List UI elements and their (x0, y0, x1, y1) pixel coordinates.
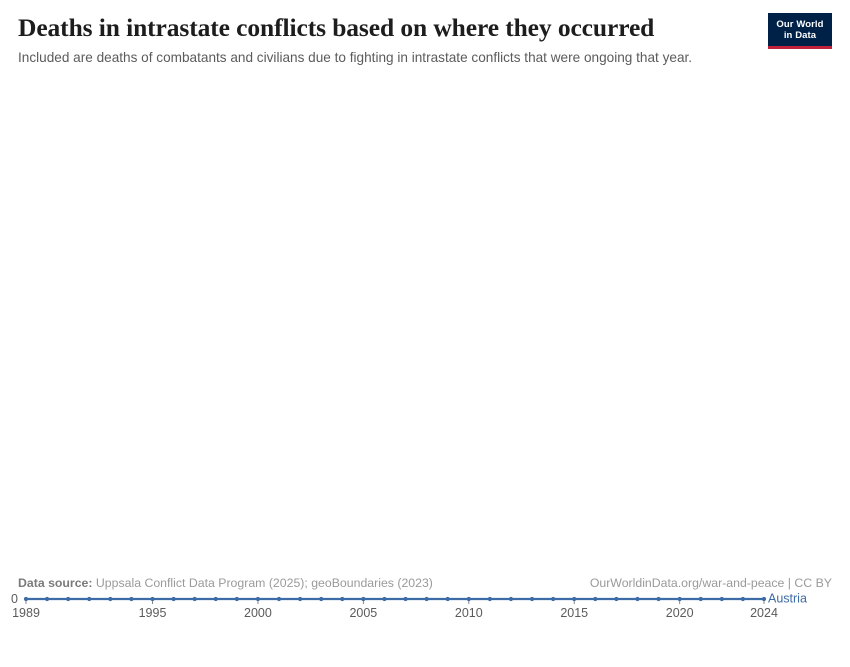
owid-logo[interactable]: Our World in Data (768, 13, 832, 49)
x-axis-tick-label-2020: 2020 (666, 606, 694, 620)
data-source: Data source: Uppsala Conflict Data Progr… (18, 576, 433, 590)
owid-logo-line2: in Data (784, 30, 816, 41)
chart-header: Deaths in intrastate conflicts based on … (0, 0, 850, 67)
x-axis-tick-label-2005: 2005 (349, 606, 377, 620)
owid-link[interactable]: OurWorldinData.org/war-and-peace | CC BY (590, 576, 832, 590)
x-axis-tick-label-1995: 1995 (139, 606, 167, 620)
chart-footer: Data source: Uppsala Conflict Data Progr… (0, 566, 850, 600)
chart-root: Deaths in intrastate conflicts based on … (0, 0, 850, 600)
chart-subtitle: Included are deaths of combatants and ci… (18, 49, 728, 67)
data-source-text: Uppsala Conflict Data Program (2025); ge… (93, 576, 433, 590)
plot-area[interactable]: 019891995200020052010201520202024Austria (0, 67, 850, 600)
x-axis-tick-label-2000: 2000 (244, 606, 272, 620)
x-axis-tick-label-2015: 2015 (560, 606, 588, 620)
x-axis-tick-label-1989: 1989 (12, 606, 40, 620)
page-title: Deaths in intrastate conflicts based on … (18, 12, 778, 43)
data-source-label: Data source: (18, 576, 93, 590)
plot-wrapper: 019891995200020052010201520202024Austria (0, 67, 850, 600)
x-axis-tick-label-2010: 2010 (455, 606, 483, 620)
owid-logo-line1: Our World (776, 19, 823, 30)
x-axis-tick-label-2024: 2024 (750, 606, 778, 620)
